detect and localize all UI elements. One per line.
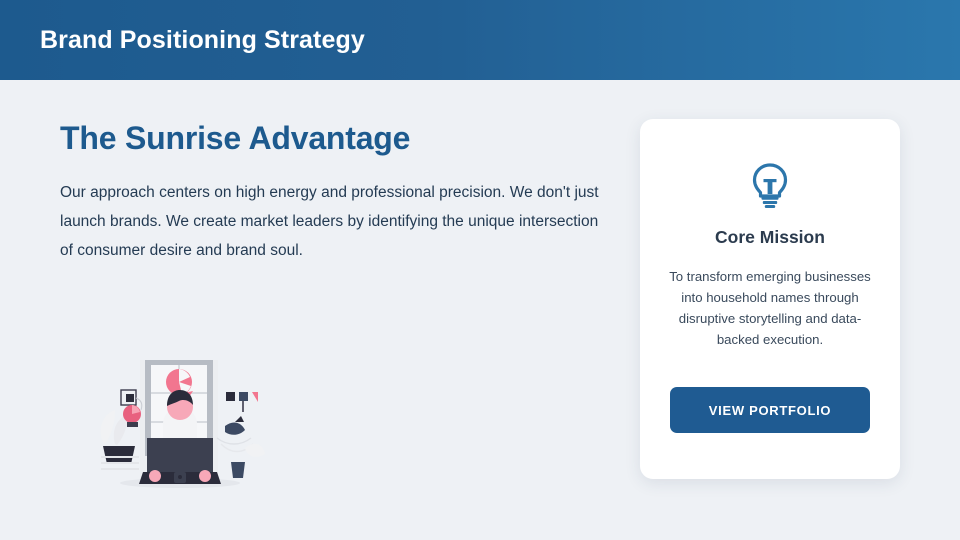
person-at-desk-illustration [85, 352, 275, 492]
left-column: The Sunrise Advantage Our approach cente… [60, 120, 620, 265]
lightbulb-icon [748, 162, 792, 210]
page-header: Brand Positioning Strategy [0, 0, 960, 80]
card-description: To transform emerging businesses into ho… [662, 266, 878, 350]
main-content: The Sunrise Advantage Our approach cente… [0, 80, 960, 540]
page-title: Brand Positioning Strategy [0, 26, 365, 55]
core-mission-card: Core Mission To transform emerging busin… [640, 119, 900, 479]
view-portfolio-button[interactable]: VIEW PORTFOLIO [670, 387, 870, 433]
section-heading: The Sunrise Advantage [60, 120, 620, 157]
body-paragraph: Our approach centers on high energy and … [60, 178, 613, 265]
card-title: Core Mission [715, 227, 825, 248]
